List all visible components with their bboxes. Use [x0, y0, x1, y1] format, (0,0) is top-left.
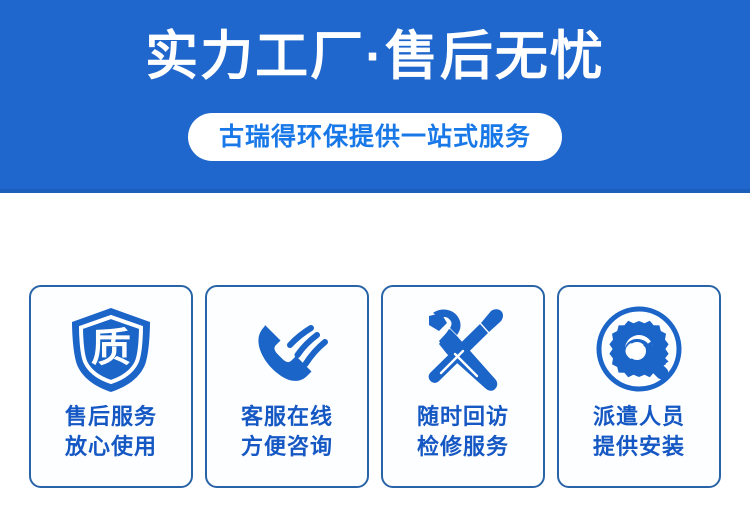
- page-title: 实力工厂·售后无忧: [0, 26, 750, 88]
- feature-card-after-sales: 质 售后服务 放心使用: [29, 285, 193, 488]
- feature-card-label-line2: 检修服务: [417, 433, 509, 463]
- subtitle-pill-label: 古瑞得环保提供一站式服务: [219, 122, 531, 152]
- feature-card-label-line2: 放心使用: [65, 433, 157, 463]
- feature-card-online-service: 客服在线 方便咨询: [205, 285, 369, 488]
- promo-banner-page: 实力工厂·售后无忧 古瑞得环保提供一站式服务 质 售后服务 放心使用: [0, 0, 750, 521]
- shield-icon-char: 质: [91, 325, 131, 371]
- feature-card-installation: 派遣人员 提供安装: [557, 285, 721, 488]
- banner-bottom-edge: [0, 189, 750, 193]
- ringing-phone-icon: [239, 301, 335, 397]
- feature-card-label-line1: 随时回访: [417, 403, 509, 433]
- feature-card-label-line2: 提供安装: [593, 433, 685, 463]
- subtitle-pill: 古瑞得环保提供一站式服务: [188, 113, 562, 161]
- shield-quality-icon: 质: [63, 301, 159, 397]
- feature-card-row: 质 售后服务 放心使用 客服在线: [29, 285, 721, 488]
- feature-card-label-line2: 方便咨询: [241, 433, 333, 463]
- feature-card-label-line1: 售后服务: [65, 403, 157, 433]
- feature-card-maintenance: 随时回访 检修服务: [381, 285, 545, 488]
- wrench-screwdriver-icon: [415, 301, 511, 397]
- header-banner: 实力工厂·售后无忧 古瑞得环保提供一站式服务: [0, 0, 750, 193]
- feature-card-label-line1: 派遣人员: [593, 403, 685, 433]
- gear-wrench-circle-icon: [591, 301, 687, 397]
- feature-card-label-line1: 客服在线: [241, 403, 333, 433]
